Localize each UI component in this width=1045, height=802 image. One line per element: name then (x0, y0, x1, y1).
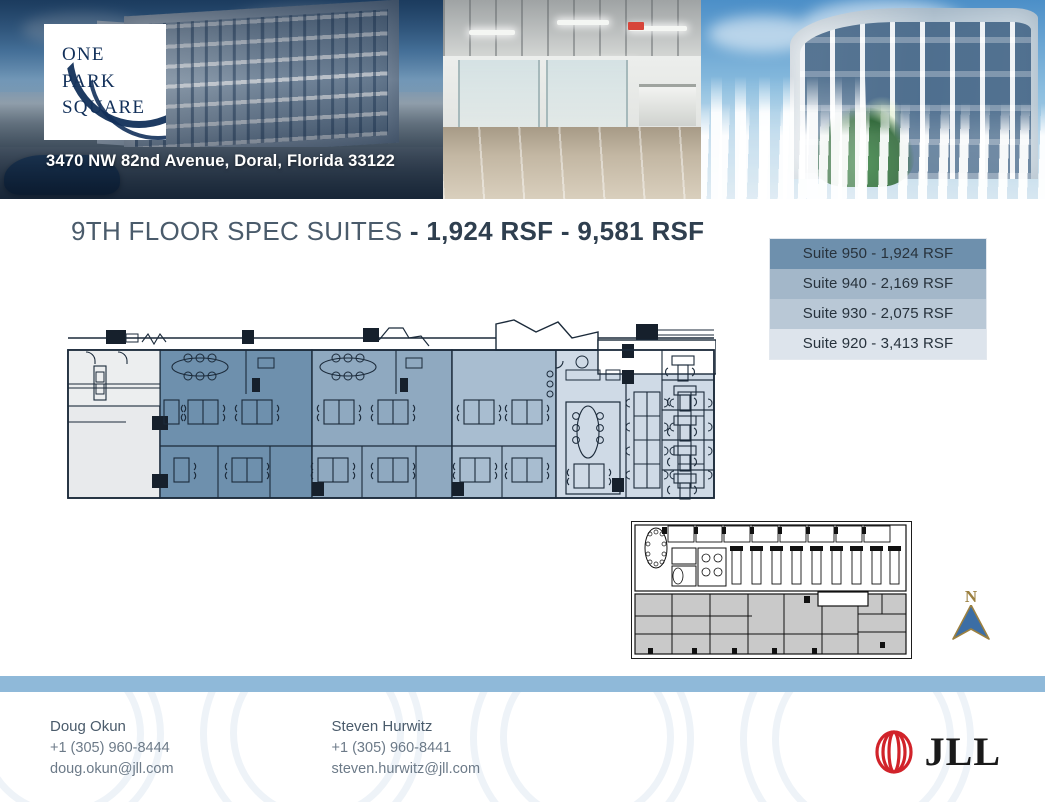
property-logo: ONE PARK SQUARE (44, 24, 166, 140)
photo-fountain-tower (701, 0, 1045, 199)
footer: Doug Okun +1 (305) 960-8444 doug.okun@jl… (0, 692, 1045, 802)
contact-name-1: Doug Okun (50, 718, 174, 735)
page-title-emphasis: - 1,924 RSF - 9,581 RSF (410, 216, 704, 246)
exit-sign (628, 22, 644, 30)
page-title: 9TH FLOOR SPEC SUITES - 1,924 RSF - 9,58… (71, 216, 704, 247)
contact-phone-2[interactable]: +1 (305) 960-8441 (332, 738, 480, 759)
floor-plan-svg (66, 318, 716, 503)
contact-name-2: Steven Hurwitz (332, 718, 480, 735)
legend-row-suite-950[interactable]: Suite 950 - 1,924 RSF (770, 239, 986, 269)
property-address: 3470 NW 82nd Avenue, Doral, Florida 3312… (46, 152, 395, 171)
contact-card-1: Doug Okun +1 (305) 960-8444 doug.okun@jl… (50, 718, 174, 779)
contact-list: Doug Okun +1 (305) 960-8444 doug.okun@jl… (50, 718, 480, 779)
legend-row-suite-920[interactable]: Suite 920 - 3,413 RSF (770, 329, 986, 359)
logo-line-park: PARK (62, 69, 148, 96)
contact-card-2: Steven Hurwitz +1 (305) 960-8441 steven.… (332, 718, 480, 779)
jll-brand: JLL (870, 728, 1001, 776)
contact-email-1[interactable]: doug.okun@jll.com (50, 759, 174, 780)
page-title-prefix: 9TH FLOOR SPEC SUITES (71, 216, 410, 246)
hero-photo-strip: ONE PARK SQUARE 3470 NW 82nd Avenue, Dor… (0, 0, 1045, 199)
contact-phone-1[interactable]: +1 (305) 960-8444 (50, 738, 174, 759)
legend-row-suite-930[interactable]: Suite 930 - 2,075 RSF (770, 299, 986, 329)
suite-legend: Suite 950 - 1,924 RSF Suite 940 - 2,169 … (769, 238, 987, 360)
contact-email-2[interactable]: steven.hurwitz@jll.com (332, 759, 480, 780)
key-plan-svg (632, 522, 909, 656)
north-arrow: N (948, 588, 994, 640)
photo-vacant-interior (443, 0, 701, 199)
key-plan-overview (631, 521, 912, 659)
compass-north-label: N (948, 588, 994, 605)
jll-mark-icon (870, 728, 918, 776)
legend-row-suite-940[interactable]: Suite 940 - 2,169 RSF (770, 269, 986, 299)
footer-divider (0, 676, 1045, 692)
logo-line-one: ONE (62, 42, 148, 69)
logo-line-square: SQUARE (62, 95, 148, 122)
floor-plan-main (66, 318, 716, 503)
jll-wordmark: JLL (925, 732, 1001, 772)
flyer-page: ONE PARK SQUARE 3470 NW 82nd Avenue, Dor… (0, 0, 1045, 802)
compass-arrow-icon (949, 605, 993, 641)
